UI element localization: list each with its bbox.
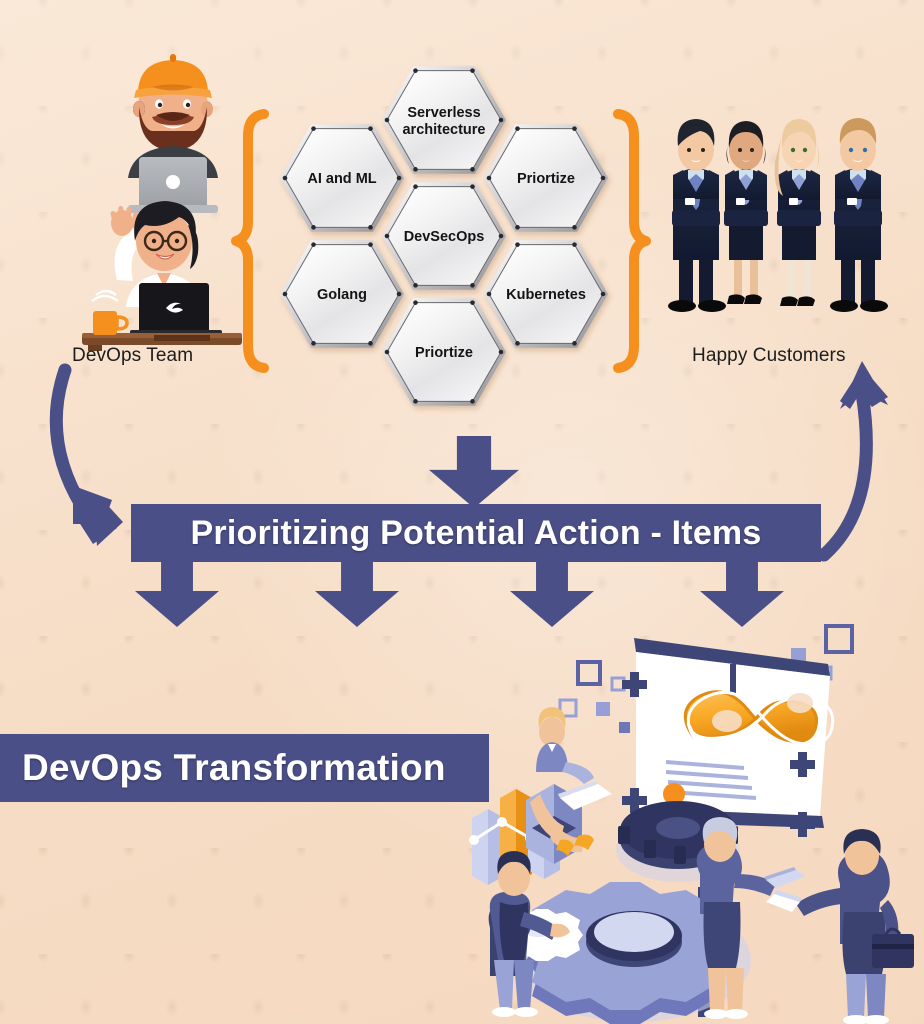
hex-vertex-dot [515, 126, 520, 131]
hex-label-devsecops: DevSecOps [404, 229, 485, 245]
infographic-canvas: DevOps Team [0, 0, 924, 1024]
hex-vertex-dot [413, 300, 418, 305]
hex-vertex-dot [311, 126, 316, 131]
customer-3 [775, 119, 821, 306]
hex-vertex-dot [385, 234, 390, 239]
hex-vertex-dot [413, 283, 418, 288]
hex-vertex-dot [470, 184, 475, 189]
hex-label-golang: Golang [317, 287, 367, 303]
hex-vertex-dot [601, 176, 606, 181]
customer-1 [668, 119, 726, 312]
customer-4 [830, 118, 888, 312]
happy-customers-illustration [655, 98, 917, 336]
coffee-mug [92, 291, 127, 335]
hex-vertex-dot [283, 176, 288, 181]
hex-label-priortize-2: Priortize [415, 345, 473, 361]
hex-vertex-dot [572, 126, 577, 131]
hex-vertex-dot [397, 176, 402, 181]
hex-vertex-dot [385, 350, 390, 355]
hex-vertex-dot [368, 126, 373, 131]
black-laptop [130, 283, 222, 337]
hex-vertex-dot [572, 341, 577, 346]
hex-vertex-dot [397, 292, 402, 297]
hex-vertex-dot [487, 292, 492, 297]
hex-vertex-dot [368, 242, 373, 247]
hex-vertex-dot [311, 225, 316, 230]
hex-vertex-dot [311, 341, 316, 346]
hex-vertex-dot [572, 242, 577, 247]
seated-woman-with-laptop [526, 707, 612, 864]
hex-vertex-dot [515, 341, 520, 346]
hex-vertex-dot [499, 350, 504, 355]
hex-vertex-dot [413, 68, 418, 73]
hex-label-ai-ml: AI and ML [307, 171, 376, 187]
hex-vertex-dot [413, 184, 418, 189]
hex-vertex-dot [487, 176, 492, 181]
hex-vertex-dot [499, 234, 504, 239]
hex-vertex-dot [499, 118, 504, 123]
woman-with-tablet [697, 817, 806, 1019]
hex-vertex-dot [311, 242, 316, 247]
hex-vertex-dot [413, 399, 418, 404]
hex-vertex-dot [515, 225, 520, 230]
hex-vertex-dot [283, 292, 288, 297]
hex-vertex-dot [470, 167, 475, 172]
devops-transformation-illustration [448, 612, 924, 1024]
hex-label-priortize-1: Priortize [517, 171, 575, 187]
arrow-into-banner [429, 436, 519, 508]
hex-vertex-dot [413, 167, 418, 172]
technology-hexagon-cluster: ServerlessarchitectureAI and MLPriortize… [268, 52, 620, 404]
hex-vertex-dot [470, 283, 475, 288]
output-arrow-2 [315, 559, 399, 627]
hex-vertex-dot [470, 300, 475, 305]
hex-label-serverless: Serverlessarchitecture [402, 105, 485, 138]
hex-vertex-dot [385, 118, 390, 123]
hex-vertex-dot [572, 225, 577, 230]
hex-vertex-dot [601, 292, 606, 297]
output-arrow-1 [135, 559, 219, 627]
right-curly-brace [608, 110, 654, 372]
hex-label-kubernetes: Kubernetes [506, 287, 586, 303]
hex-vertex-dot [470, 399, 475, 404]
customer-2 [724, 121, 768, 304]
hex-vertex-dot [515, 242, 520, 247]
hex-vertex-dot [368, 341, 373, 346]
main-banner: Prioritizing Potential Action - Items [131, 504, 821, 562]
hex-vertex-dot [368, 225, 373, 230]
hex-vertex-dot [470, 68, 475, 73]
man-with-briefcase [766, 829, 914, 1024]
bottom-banner: DevOps Transformation [0, 734, 489, 802]
